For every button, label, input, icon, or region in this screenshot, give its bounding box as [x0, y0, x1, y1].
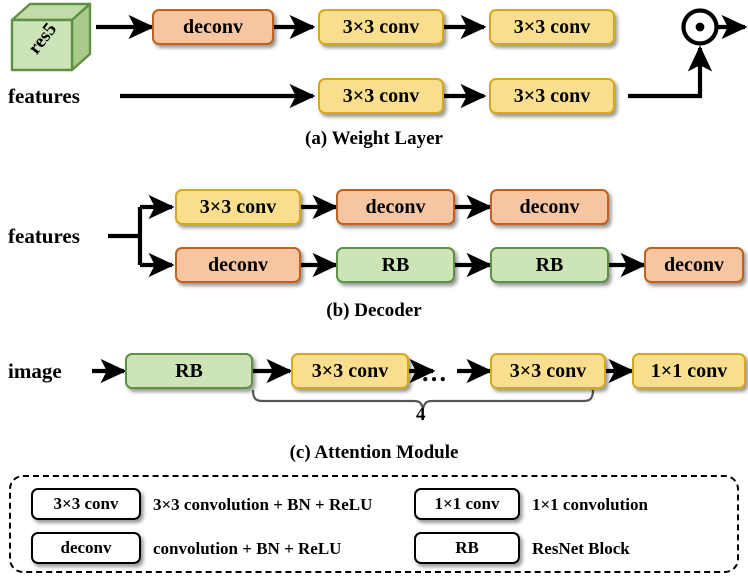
panel-c-caption: (c) Attention Module [0, 442, 748, 464]
multiply-node-dot [696, 23, 705, 32]
legend-swatch-conv3x3: 3×3 conv [31, 488, 141, 520]
panel-a-caption: (a) Weight Layer [0, 128, 748, 150]
panel-a-conv-node-1[interactable]: 3×3 conv [318, 9, 444, 45]
panel-b-caption: (b) Decoder [0, 300, 748, 322]
panel-b-bottom-deconv-2[interactable]: deconv [644, 247, 744, 283]
legend-swatch-conv1x1: 1×1 conv [414, 488, 520, 520]
panel-b-bottom-deconv-1[interactable]: deconv [175, 247, 301, 283]
panel-b-rb-2[interactable]: RB [490, 247, 609, 283]
panel-a-deconv-node[interactable]: deconv [152, 9, 274, 45]
path-b-fork [108, 207, 140, 265]
figure-canvas: res5 features deconv 3×3 conv 3×3 conv 3… [0, 0, 748, 581]
res5-cube: res5 [8, 2, 94, 74]
legend-swatch-deconv: deconv [31, 532, 141, 564]
panel-c-image-label: image [8, 359, 62, 384]
panel-c-ellipsis: … [421, 360, 449, 386]
panel-a-conv-node-2[interactable]: 3×3 conv [489, 9, 615, 45]
panel-b-rb-1[interactable]: RB [336, 247, 455, 283]
legend-desc-deconv: convolution + BN + ReLU [153, 539, 341, 559]
path-a-skip-to-merge [628, 56, 700, 96]
panel-c-conv-2[interactable]: 3×3 conv [490, 353, 606, 389]
panel-b-top-conv[interactable]: 3×3 conv [175, 189, 301, 225]
legend-desc-rb: ResNet Block [532, 539, 630, 559]
panel-c-conv-3[interactable]: 1×1 conv [632, 353, 746, 389]
panel-c-conv-1[interactable]: 3×3 conv [291, 353, 409, 389]
panel-a-features-label: features [8, 84, 80, 109]
legend-box: 3×3 conv 3×3 convolution + BN + ReLU dec… [9, 475, 739, 573]
legend-desc-conv3x3: 3×3 convolution + BN + ReLU [153, 495, 372, 515]
panel-a-conv-node-3[interactable]: 3×3 conv [318, 78, 444, 114]
panel-b-features-label: features [8, 224, 80, 249]
panel-c-rb[interactable]: RB [125, 353, 253, 389]
panel-b-top-deconv-1[interactable]: deconv [336, 189, 455, 225]
panel-a-conv-node-4[interactable]: 3×3 conv [489, 78, 615, 114]
panel-b-top-deconv-2[interactable]: deconv [490, 189, 609, 225]
repeat-count-label: 4 [416, 404, 426, 426]
legend-swatch-rb: RB [414, 532, 520, 564]
legend-desc-conv1x1: 1×1 convolution [532, 495, 648, 515]
